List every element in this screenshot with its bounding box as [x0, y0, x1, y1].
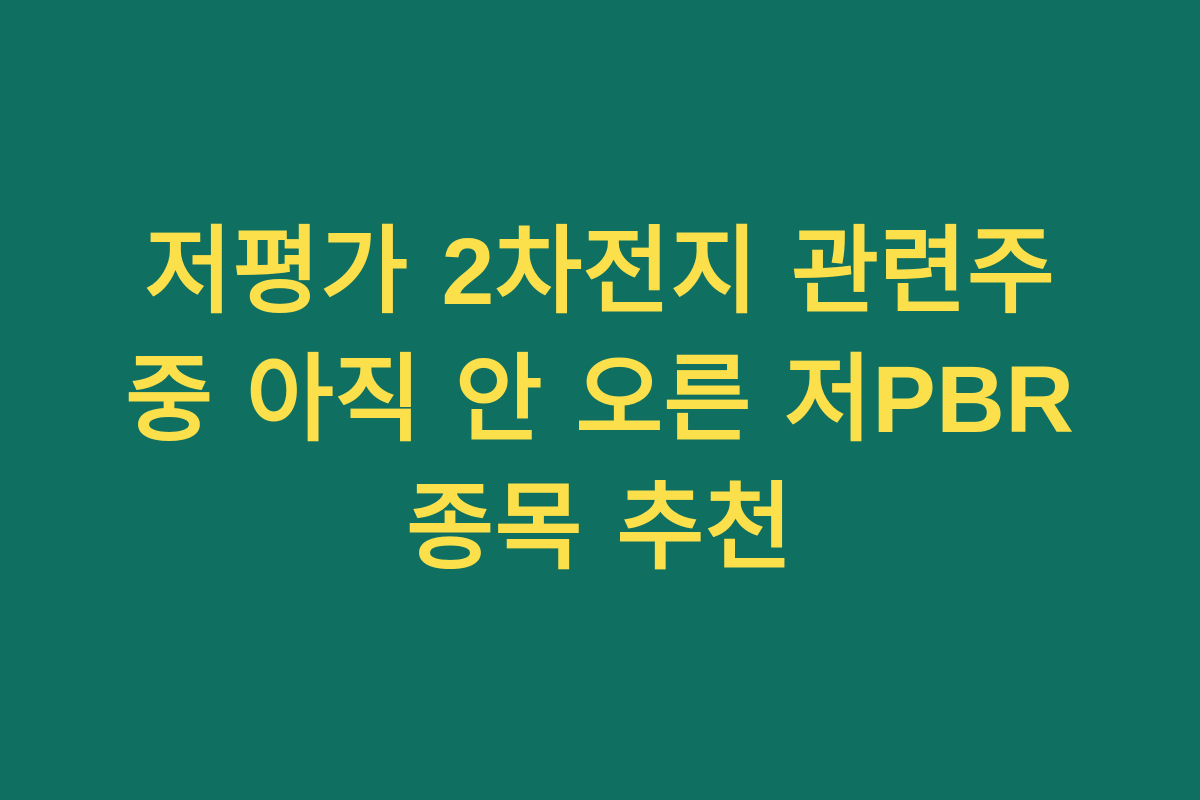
headline-line-3: 종목 추천: [95, 464, 1105, 592]
banner-canvas: 저평가 2차전지 관련주 중 아직 안 오른 저PBR 종목 추천: [0, 0, 1200, 800]
headline-line-1: 저평가 2차전지 관련주: [95, 208, 1105, 336]
headline-line-2: 중 아직 안 오른 저PBR: [95, 336, 1105, 464]
page-title: 저평가 2차전지 관련주 중 아직 안 오른 저PBR 종목 추천: [95, 208, 1105, 592]
